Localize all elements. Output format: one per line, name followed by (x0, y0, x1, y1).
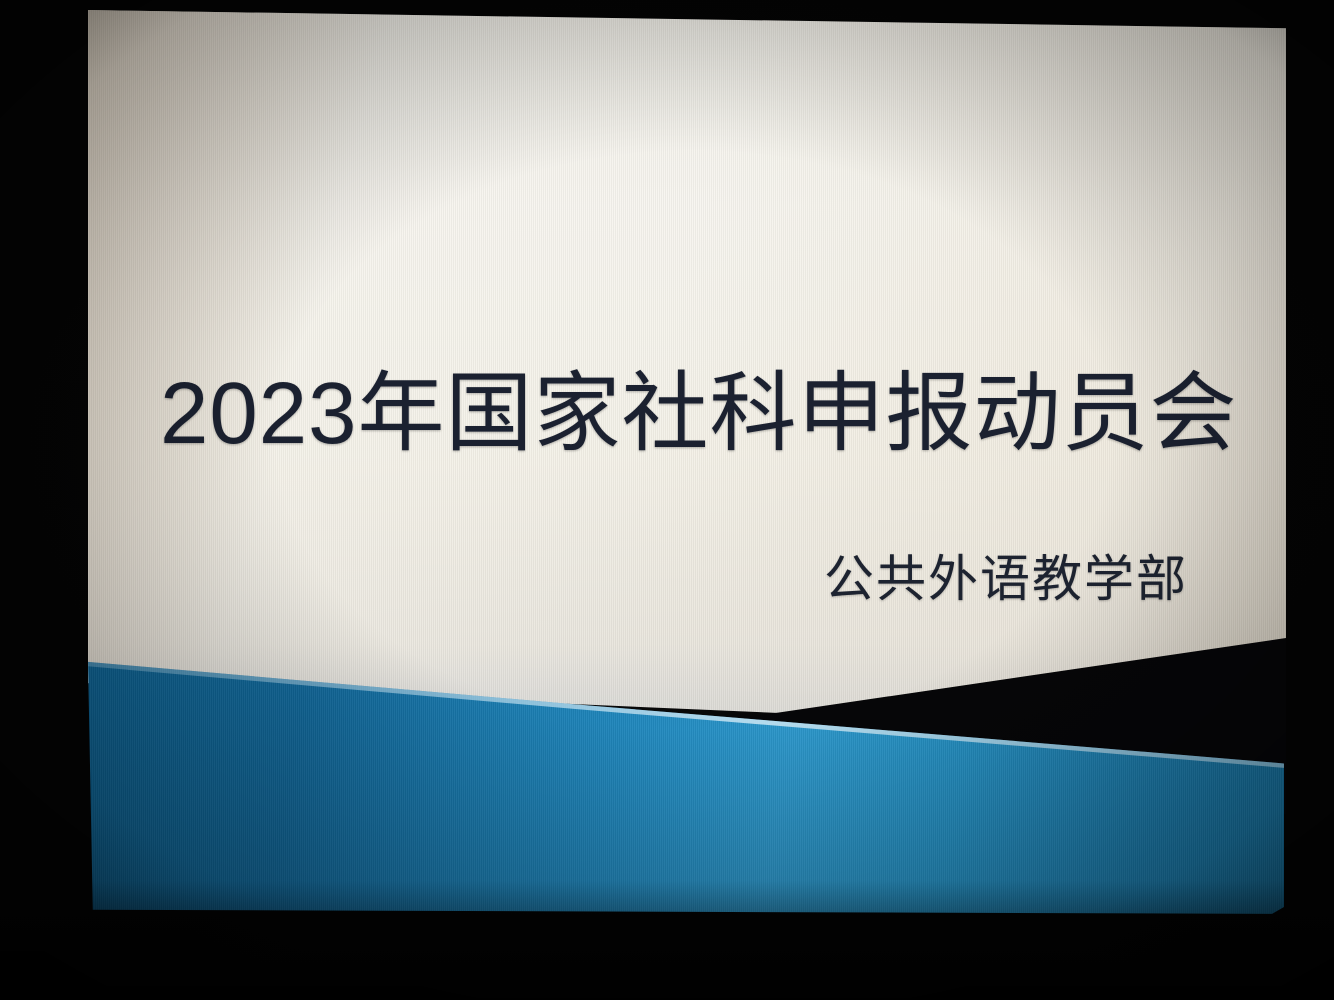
slide-subtitle: 公共外语教学部 (160, 554, 1188, 604)
presentation-slide: 2023年国家社科申报动员会 公共外语教学部 (88, 2, 1286, 918)
projected-slide-photo: 2023年国家社科申报动员会 公共外语教学部 (0, 0, 1334, 1000)
slide-title: 2023年国家社科申报动员会 (160, 370, 1250, 457)
